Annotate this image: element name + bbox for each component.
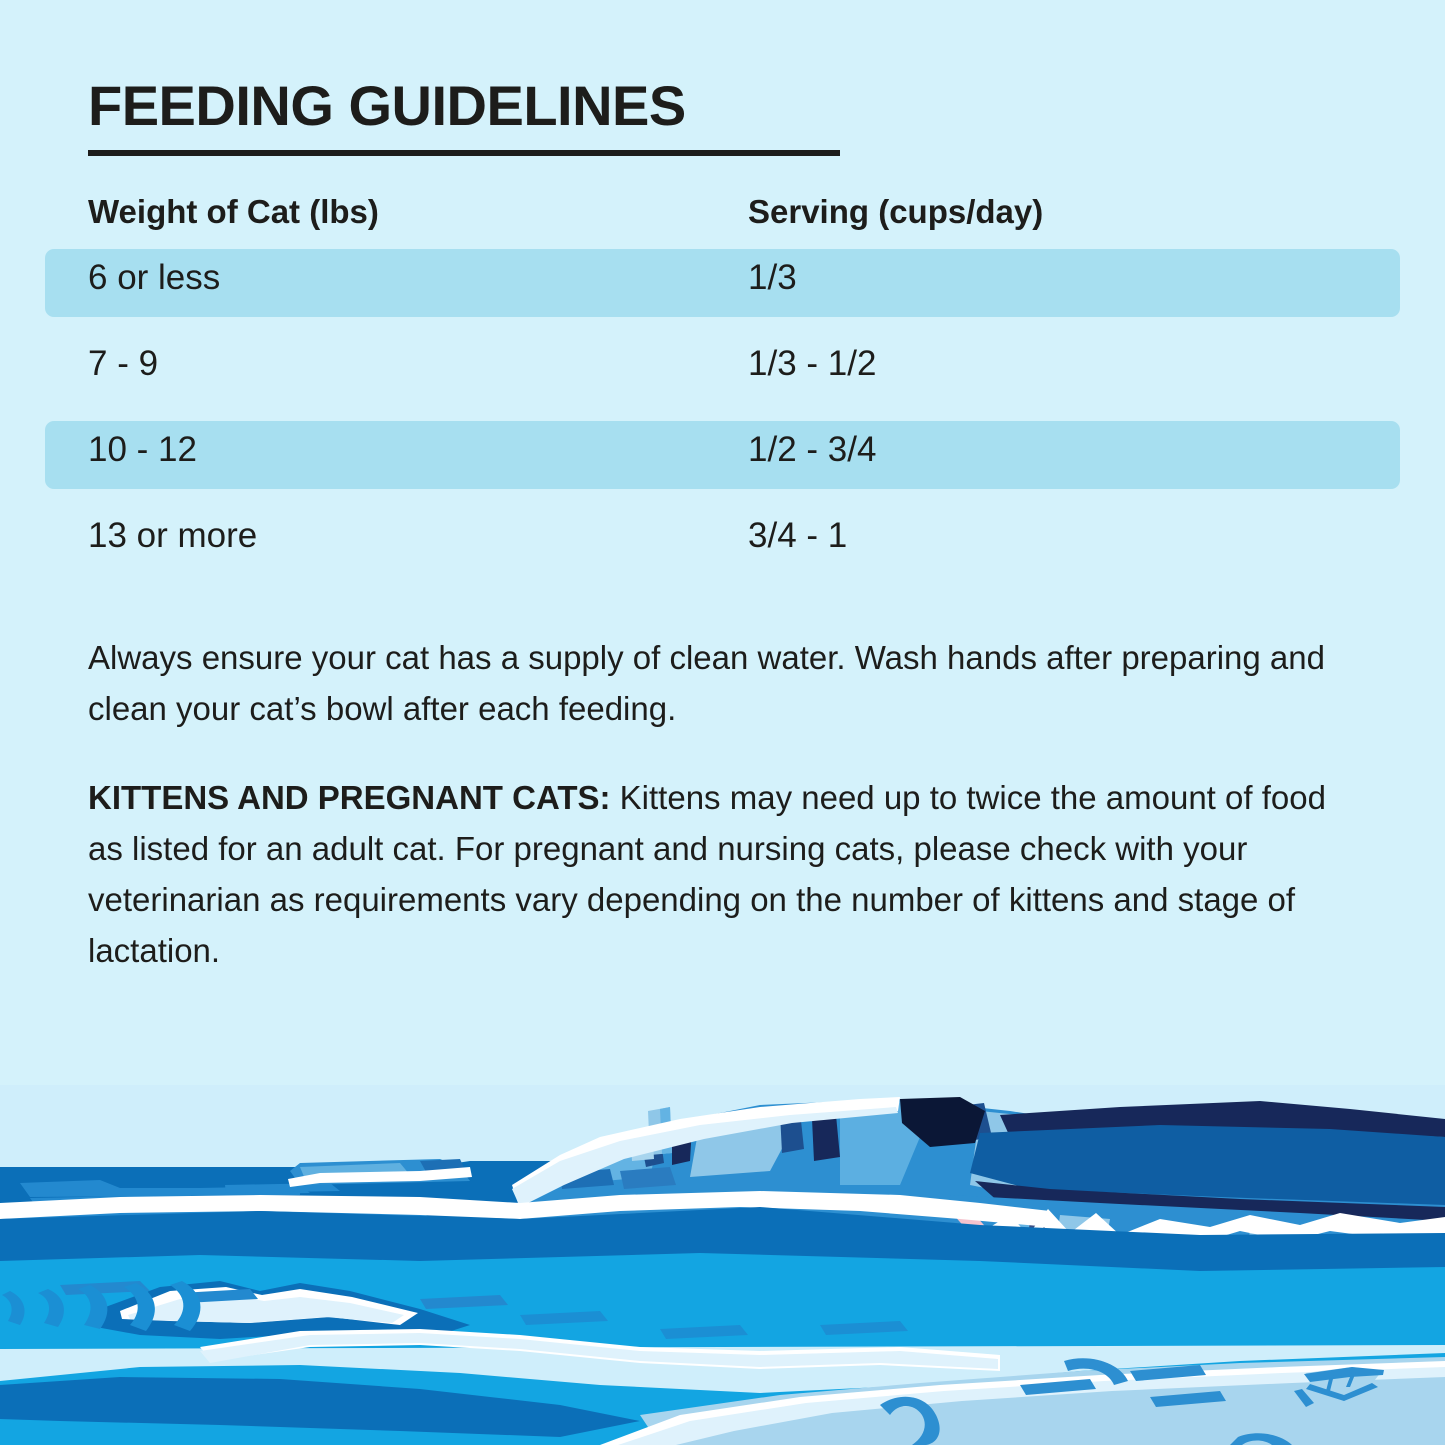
cell-serving: 1/3	[748, 258, 797, 298]
cell-weight: 7 - 9	[88, 344, 158, 384]
cliff-crevice	[812, 1115, 840, 1161]
water-note-paragraph: Always ensure your cat has a supply of c…	[88, 632, 1363, 734]
row-stripe	[45, 421, 1400, 489]
cell-weight: 13 or more	[88, 516, 257, 556]
row-stripe	[45, 249, 1400, 317]
cell-serving: 1/2 - 3/4	[748, 430, 876, 470]
table-row: 7 - 9 1/3 - 1/2	[0, 335, 1445, 421]
column-header-weight: Weight of Cat (lbs)	[88, 193, 379, 231]
table-row: 10 - 12 1/2 - 3/4	[0, 421, 1445, 507]
column-header-serving: Serving (cups/day)	[748, 193, 1043, 231]
page-title: FEEDING GUIDELINES	[88, 78, 686, 134]
table-row: 6 or less 1/3	[0, 249, 1445, 335]
cell-weight: 10 - 12	[88, 430, 197, 470]
coastal-cliffs-illustration	[0, 1085, 1445, 1445]
cell-serving: 1/3 - 1/2	[748, 344, 876, 384]
kittens-note-label: KITTENS AND PREGNANT CATS:	[88, 779, 611, 816]
row-stripe	[45, 335, 1400, 403]
table-row: 13 or more 3/4 - 1	[0, 507, 1445, 593]
title-underline-rule	[88, 150, 840, 156]
feeding-guidelines-panel: FEEDING GUIDELINES Weight of Cat (lbs) S…	[0, 0, 1445, 1445]
cell-serving: 3/4 - 1	[748, 516, 847, 556]
table-header-row: Weight of Cat (lbs) Serving (cups/day)	[0, 185, 1445, 249]
kittens-note-paragraph: KITTENS AND PREGNANT CATS: Kittens may n…	[88, 772, 1363, 976]
coastal-scene-svg	[0, 1085, 1445, 1445]
cell-weight: 6 or less	[88, 258, 220, 298]
feeding-guidelines-table: Weight of Cat (lbs) Serving (cups/day) 6…	[0, 185, 1445, 593]
